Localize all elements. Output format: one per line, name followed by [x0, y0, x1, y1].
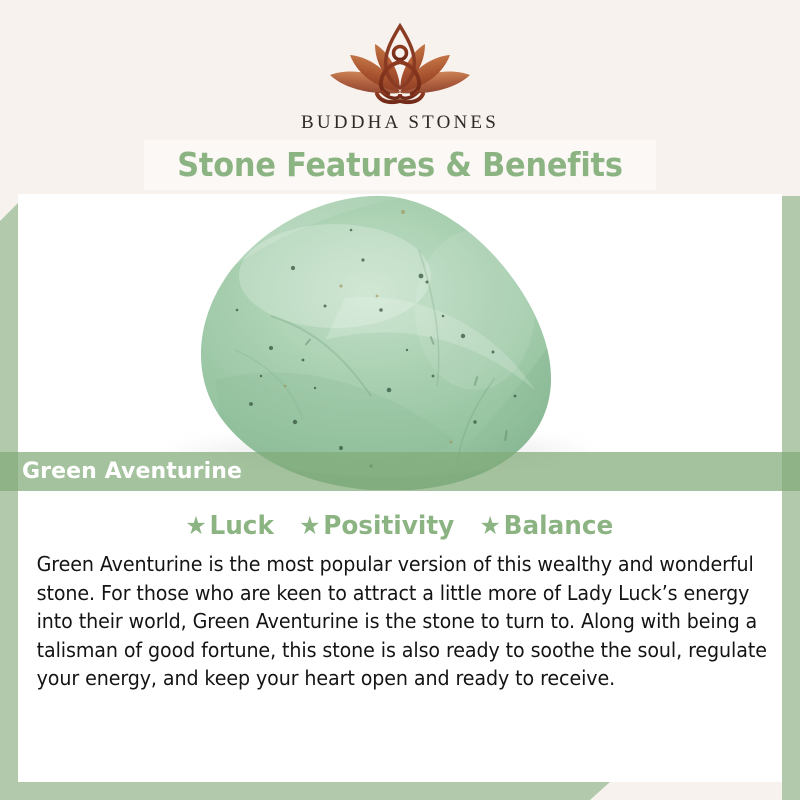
stone-photo-panel: [18, 194, 782, 494]
page-title: Stone Features & Benefits: [164, 140, 635, 190]
description-text: Green Aventurine is the most popular ver…: [18, 550, 788, 693]
star-icon: ★: [479, 511, 500, 540]
brand-name: BUDDHA STONES: [0, 112, 800, 134]
brand-logo: BUDDHA STONES: [0, 22, 800, 134]
keyword-item-positivity: ★Positivity: [299, 511, 454, 541]
keyword-item-luck: ★Luck: [186, 511, 275, 541]
green-aventurine-stone-image: [175, 194, 595, 490]
keyword-label: Luck: [210, 511, 274, 541]
product-name-band: Green Aventurine: [0, 452, 800, 491]
card-header: BUDDHA STONES Stone Features & Benefits: [0, 0, 800, 196]
keyword-item-balance: ★Balance: [479, 511, 613, 541]
product-name: Green Aventurine: [22, 452, 242, 491]
star-icon: ★: [186, 511, 207, 540]
lotus-meditation-icon: [315, 22, 485, 108]
decor-band-bottom: [0, 782, 610, 800]
keyword-label: Balance: [504, 511, 614, 541]
keyword-label: Positivity: [323, 511, 454, 541]
stone-info-card: BUDDHA STONES Stone Features & Benefits: [0, 0, 800, 800]
card-content: ★Luck★Positivity★Balance Green Aventurin…: [18, 494, 782, 782]
keyword-list: ★Luck★Positivity★Balance: [18, 494, 782, 541]
star-icon: ★: [299, 511, 320, 540]
title-plate: Stone Features & Benefits: [144, 140, 656, 190]
decor-band-left: [0, 203, 18, 800]
